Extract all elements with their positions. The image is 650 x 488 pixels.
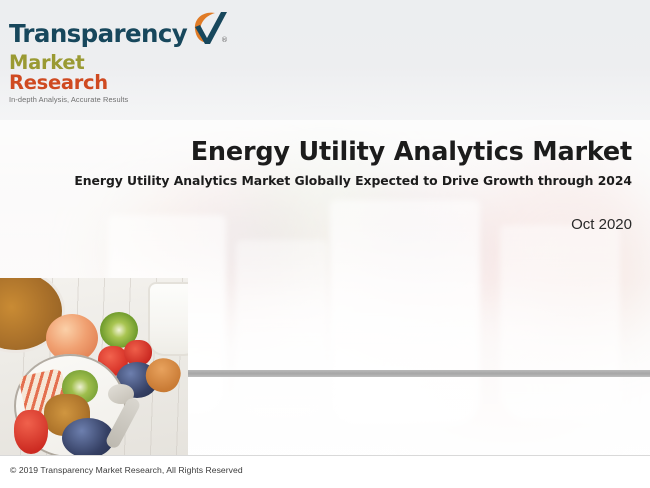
logo-word-transparency: Transparency [9,22,187,47]
svg-text:®: ® [221,36,228,44]
page-subtitle: Energy Utility Analytics Market Globally… [0,174,632,189]
checkmark-swoosh-icon: ® [188,8,189,48]
company-logo[interactable]: Transparency ® Market Research In-depth … [9,22,189,104]
copyright-notice: © 2019 Transparency Market Research, All… [10,465,243,475]
report-date: Oct 2020 [571,216,632,233]
title-block: Energy Utility Analytics Market Energy U… [0,138,650,189]
divider-bar [188,370,650,377]
logo-word-research: Research [9,71,108,94]
page-title: Energy Utility Analytics Market [0,138,632,166]
slide-canvas: Transparency ® Market Research In-depth … [0,0,650,488]
footer-bar: © 2019 Transparency Market Research, All… [0,455,650,488]
logo-tagline: In-depth Analysis, Accurate Results [9,95,189,104]
logo-primary-row: Transparency ® [9,22,189,48]
milk-jar-shape [148,282,188,356]
strawberry-shape [14,410,48,454]
logo-secondary-row: Market Research [9,53,189,92]
blueberry-cluster-shape [62,418,114,455]
inset-photo [0,278,188,455]
